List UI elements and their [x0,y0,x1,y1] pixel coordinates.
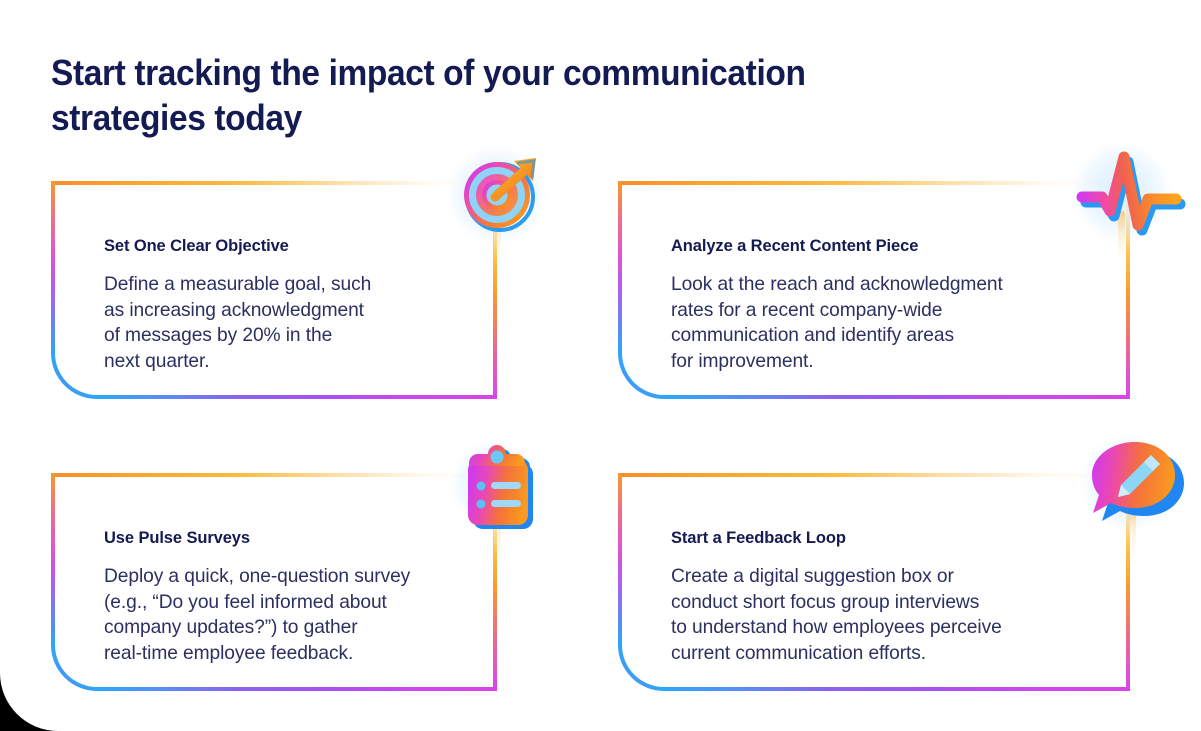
page-title: Start tracking the impact of your commun… [51,50,944,141]
card-title: Analyze a Recent Content Piece [671,236,1088,256]
clipboard-checklist-icon [442,430,552,548]
card-title: Set One Clear Objective [104,236,453,256]
card-text: Define a measurable goal, such as increa… [104,272,459,375]
card-analyze-a-recent-content-piece: Analyze a Recent Content Piece Look at t… [618,181,1130,399]
speech-bubble-pencil-icon [1073,427,1183,545]
card-title: Start a Feedback Loop [671,528,1098,548]
card-use-pulse-surveys: Use Pulse Surveys Deploy a quick, one-qu… [51,473,497,691]
card-title: Use Pulse Surveys [104,528,482,548]
card-text: Create a digital suggestion box or condu… [671,564,1104,667]
card-start-a-feedback-loop: Start a Feedback Loop Create a digital s… [618,473,1130,691]
card-text: Deploy a quick, one-question survey (e.g… [104,564,488,667]
card-set-one-clear-objective: Set One Clear Objective Define a measura… [51,181,497,399]
card-text: Look at the reach and acknowledgment rat… [671,272,1095,375]
target-arrow-icon [442,142,552,260]
pulse-line-icon [1066,139,1176,257]
infographic-page: Start tracking the impact of your commun… [0,0,1201,731]
